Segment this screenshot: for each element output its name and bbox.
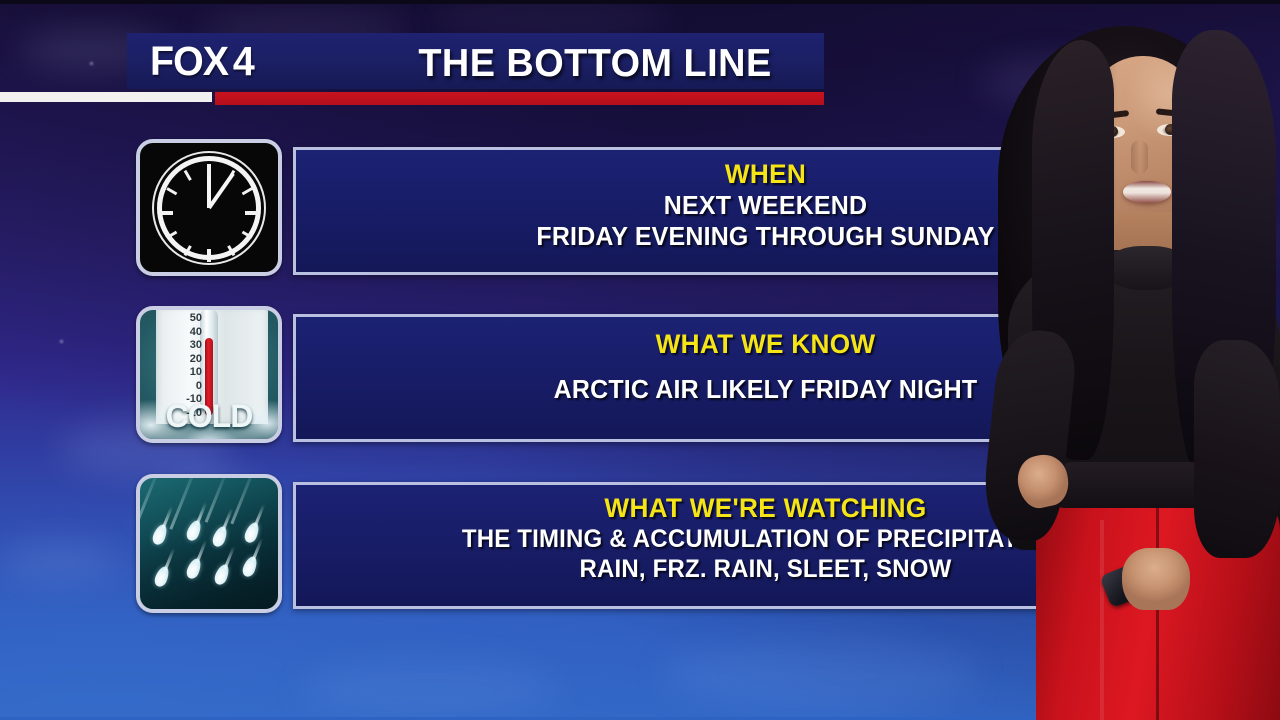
raindrop [241, 555, 260, 579]
cloud-wisp [0, 540, 120, 584]
white-accent-rule [0, 92, 212, 102]
presenter-trouser-crease [1100, 520, 1104, 720]
cloud-wisp [300, 660, 560, 720]
raindrop [211, 525, 230, 549]
logo-text-fox: FOX [150, 38, 228, 84]
raindrop [185, 557, 204, 581]
page-title: THE BOTTOM LINE [367, 42, 823, 86]
raindrop [213, 563, 232, 587]
precipitation-icon [136, 474, 282, 613]
presenter-mouth [1123, 181, 1171, 203]
cloud-wisp [430, 4, 670, 34]
raindrop [185, 519, 204, 543]
sparkle [60, 340, 63, 343]
raindrop [153, 565, 172, 589]
presenter-hand [1122, 548, 1190, 610]
clock-minute-hand [207, 172, 234, 209]
clock-icon [136, 139, 282, 276]
thermometer-cold-icon: 50 40 30 20 10 0 -10 -20 COLD [136, 306, 282, 443]
sparkle [90, 62, 93, 65]
presenter-video [980, 0, 1280, 720]
logo-text-number: 4 [233, 38, 254, 84]
presenter-nose [1131, 140, 1148, 174]
cloud-wisp [660, 640, 980, 710]
thermometer-cold-label: COLD [140, 398, 278, 435]
broadcast-graphic: FOX4 THE BOTTOM LINE [0, 0, 1280, 720]
clock-face [157, 156, 261, 260]
fox4-logo: FOX4 [150, 41, 254, 82]
presenter-arm [1194, 340, 1280, 558]
raindrop [151, 523, 170, 547]
red-accent-rule [215, 92, 824, 105]
